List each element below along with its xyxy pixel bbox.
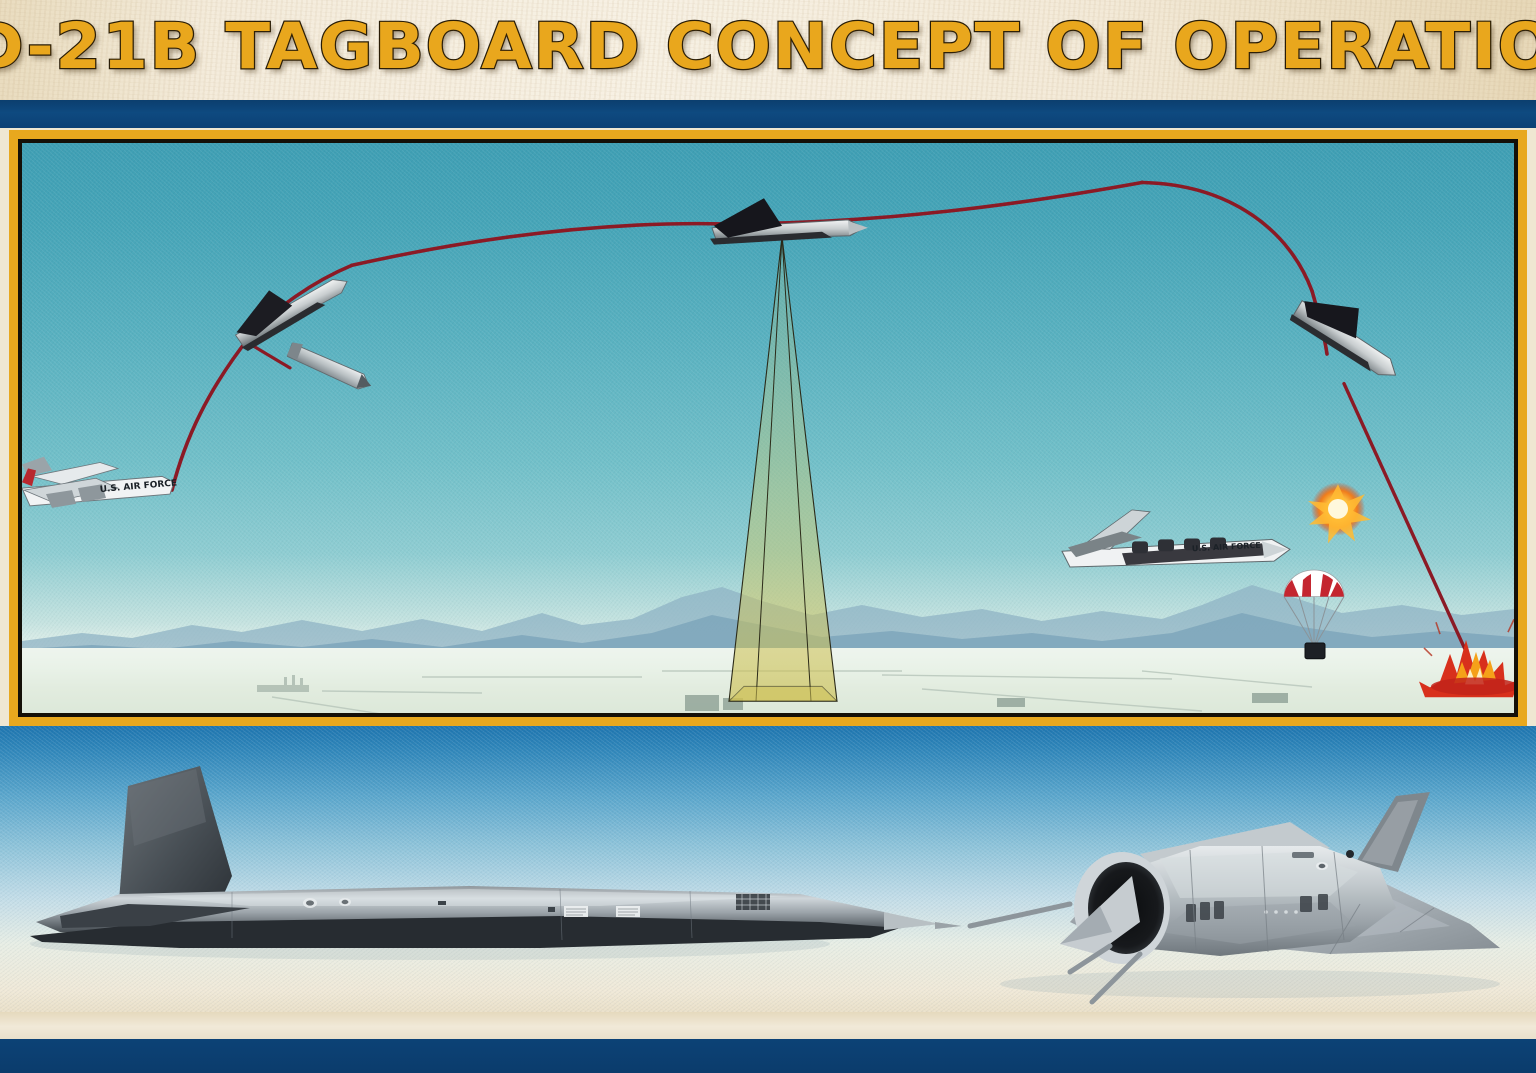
booster-fall-path — [252, 345, 290, 368]
drone-destruction-explosion — [1419, 619, 1514, 697]
hardware-photo-panel — [0, 726, 1536, 1013]
illustration-canvas: U.S. AIR FORCE — [18, 139, 1518, 717]
footer-divider-rule — [0, 1039, 1536, 1073]
booster-jettisoned — [286, 338, 375, 397]
sensor-footprint-cone — [729, 237, 837, 701]
footer-cream-strip — [0, 1012, 1536, 1039]
drone-photographs — [0, 726, 1536, 1013]
mission-profile-diagram: U.S. AIR FORCE — [22, 143, 1514, 713]
header-divider-rule — [0, 100, 1536, 128]
payload-ejection-event — [1288, 279, 1415, 390]
slide-page: D-21B TAGBOARD CONCEPT OF OPERATIONS — [0, 0, 1536, 1073]
ejection-flash-icon — [1308, 482, 1371, 543]
carrier-aircraft-b52: U.S. AIR FORCE — [22, 457, 177, 508]
page-title: D-21B TAGBOARD CONCEPT OF OPERATIONS — [0, 11, 1536, 83]
illustration-frame: U.S. AIR FORCE — [9, 130, 1527, 726]
header-banner: D-21B TAGBOARD CONCEPT OF OPERATIONS — [0, 0, 1536, 100]
payload-capsule — [1305, 643, 1325, 659]
drone-side-profile-photo — [30, 766, 962, 960]
recovery-aircraft-c130: U.S. AIR FORCE — [1062, 510, 1290, 567]
drone-three-quarter-photo — [970, 792, 1500, 1002]
recovery-parachute — [1284, 570, 1344, 659]
